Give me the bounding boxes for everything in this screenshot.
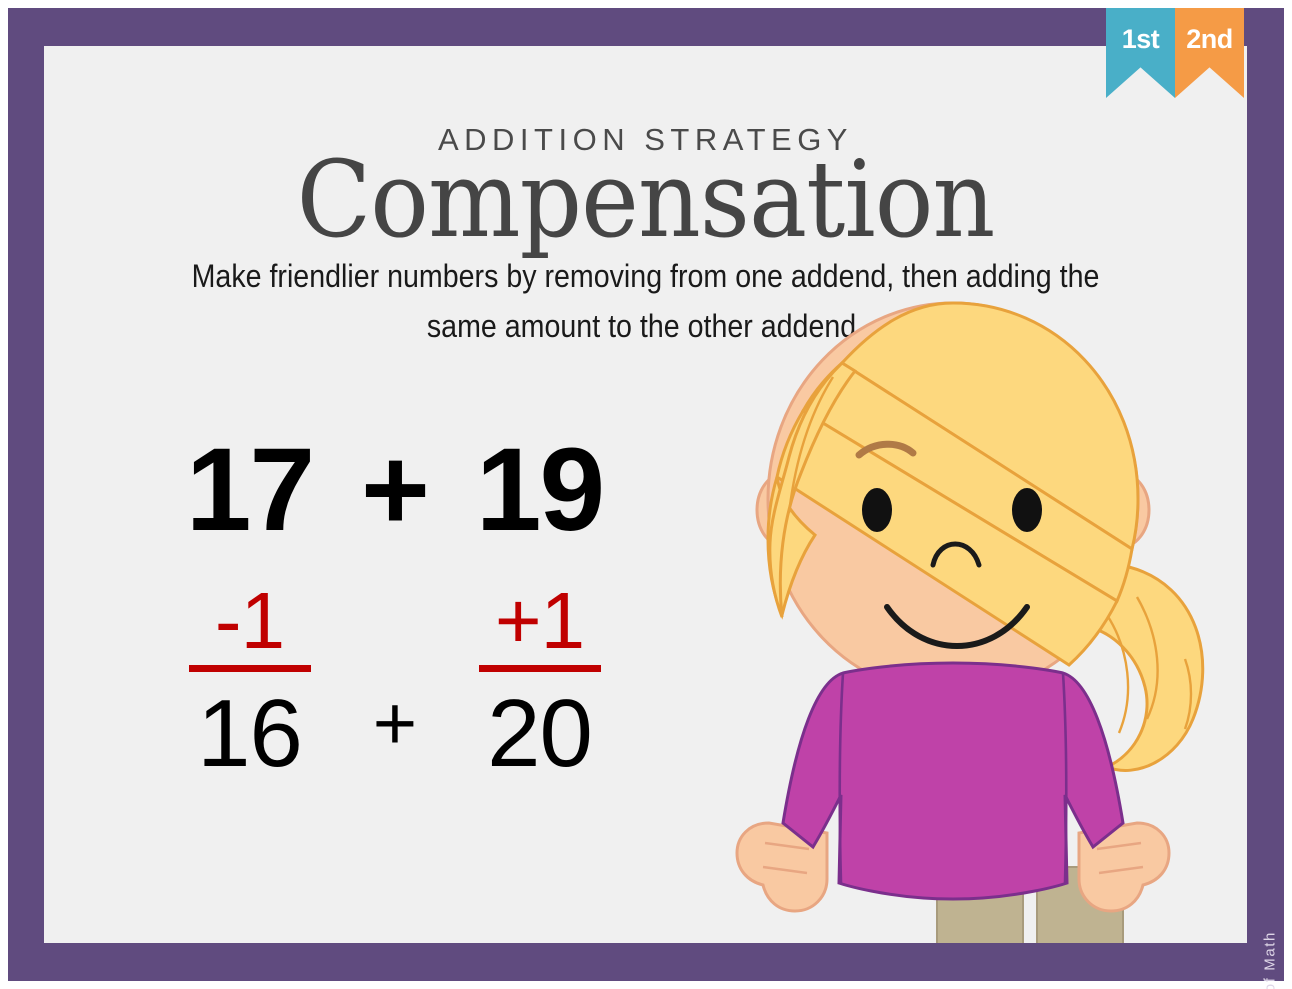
result-right-addend: 20 [452,684,627,785]
equation-result-row: 16 + 20 [162,684,632,785]
right-adjustment-rule [479,665,601,672]
original-right-addend: 19 [452,431,627,549]
result-operator: + [337,684,452,785]
poster: ADDITION STRATEGY Compensation Make frie… [0,0,1292,989]
grade-ribbon-2nd-label: 2nd [1186,26,1233,98]
shirt-group [783,663,1123,899]
left-adjustment-cell: -1 [162,583,337,672]
page-title: Compensation [92,134,1199,267]
right-eye [1012,488,1042,532]
equation-adjustment-row: -1 +1 [162,583,632,672]
grade-ribbons: 1st 2nd [1106,8,1244,98]
right-adjustment-cell: +1 [452,583,627,672]
smiling-blonde-girl-illustration [637,267,1247,943]
adjustment-spacer [337,583,452,672]
left-adjustment-value: -1 [215,583,284,659]
result-left-addend: 16 [162,684,337,785]
grade-ribbon-2nd[interactable]: 2nd [1175,8,1244,98]
original-operator: + [337,431,452,549]
poster-panel: ADDITION STRATEGY Compensation Make frie… [44,46,1247,943]
right-adjustment-value: +1 [495,583,584,659]
copyright-notice: 2016 © All Sorts of Math [1261,931,1278,989]
equation-original-row: 17 + 19 [162,431,632,549]
grade-ribbon-1st[interactable]: 1st [1106,8,1175,98]
left-adjustment-rule [189,665,311,672]
compensation-equation: 17 + 19 -1 +1 16 + 20 [162,431,632,785]
grade-ribbon-1st-label: 1st [1122,26,1160,98]
left-eye [862,488,892,532]
original-left-addend: 17 [162,431,337,549]
